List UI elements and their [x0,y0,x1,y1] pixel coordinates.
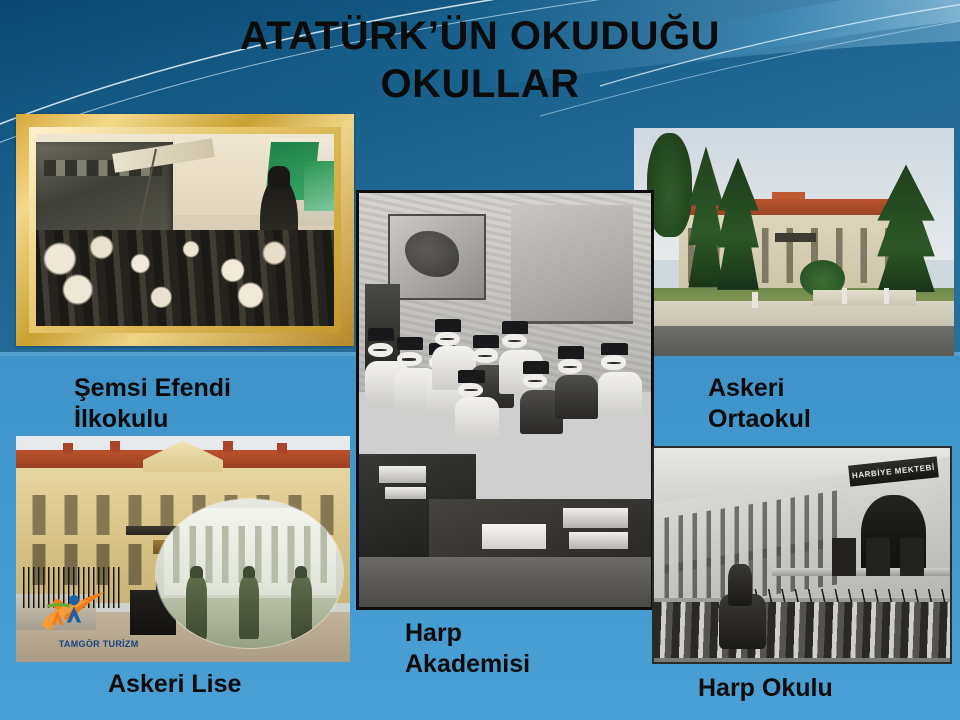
photo-image-crowd [36,134,334,326]
photo-harp-okulu[interactable]: HARBİYE MEKTEBİ [652,446,952,664]
page-title: ATATÜRK’ÜN OKUDUĞU OKULLAR [0,12,960,108]
slide-canvas: ATATÜRK’ÜN OKUDUĞU OKULLAR Şemsi Efendi … [0,0,960,720]
caption-harp-okulu: Harp Okulu [698,673,833,704]
photo-image-military-high-school: TAMGÖR TURİZM [16,436,350,662]
photo-image-harbiye-mektebi: HARBİYE MEKTEBİ [654,448,950,662]
photo-askeri-lise[interactable]: TAMGÖR TURİZM [16,436,350,662]
caption-askeri-ortaokul: Askeri Ortaokul [708,373,811,435]
caption-askeri-lise: Askeri Lise [108,669,241,700]
logo-text: TAMGÖR TURİZM [59,639,139,649]
photo-askeri-ortaokul[interactable] [634,128,954,356]
photo-image-classroom [359,193,651,607]
photo-image-military-middle-school [634,128,954,356]
photo-harp-akademisi[interactable] [356,190,654,610]
photo-semsi-efendi[interactable] [16,114,354,346]
tamgor-turizm-logo: TAMGÖR TURİZM [33,574,187,651]
caption-harp-akademisi: Harp Akademisi [405,618,530,680]
caption-semsi-efendi: Şemsi Efendi İlkokulu [74,373,231,435]
